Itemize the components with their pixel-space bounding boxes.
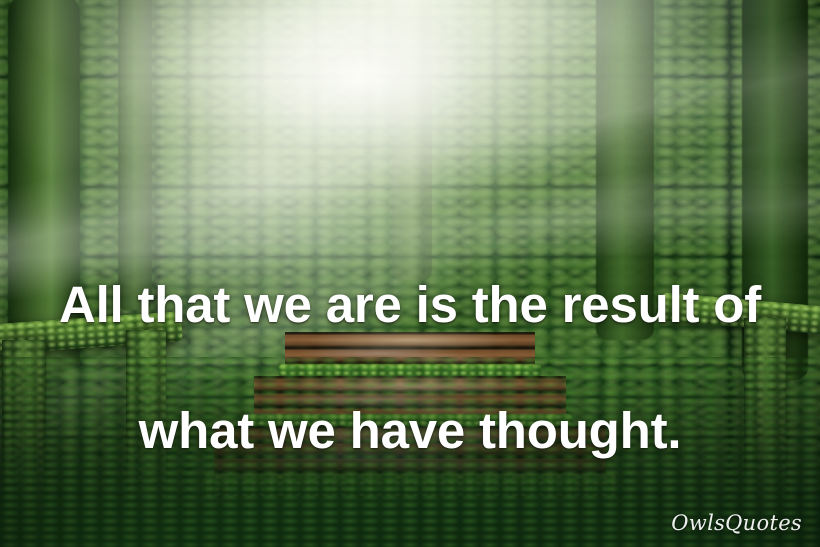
quote-image-canvas: All that we are is the result of what we… bbox=[0, 0, 820, 547]
watermark-owlsquotes: OwlsQuotes bbox=[671, 511, 802, 535]
quote-text: All that we are is the result of what we… bbox=[0, 210, 820, 525]
quote-line-2: what we have thought. bbox=[36, 399, 784, 462]
quote-line-1: All that we are is the result of bbox=[36, 273, 784, 336]
